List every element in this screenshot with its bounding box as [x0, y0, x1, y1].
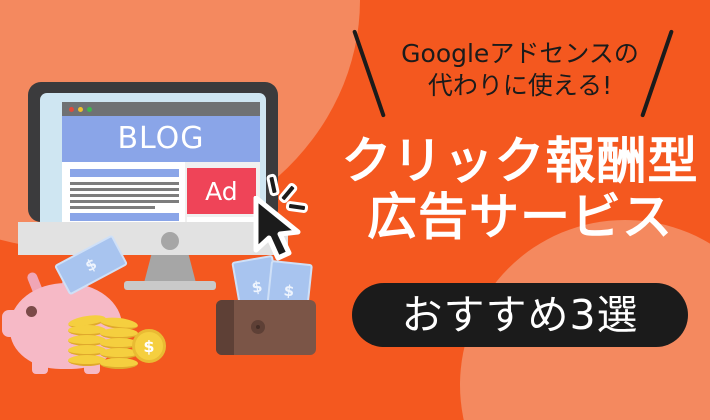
article-text-line [70, 194, 179, 197]
monitor-power-button [161, 232, 179, 250]
monitor-graphic: BLOG [28, 82, 278, 222]
headline-line-1: クリック報酬型 [342, 132, 699, 190]
browser-titlebar [62, 102, 260, 116]
site-title: BLOG [117, 124, 204, 154]
article-column [62, 162, 185, 222]
browser-window: BLOG [62, 102, 260, 222]
article-heading-bar [70, 213, 179, 221]
coin-icon [100, 358, 138, 369]
wallet-flap [216, 300, 234, 355]
piggy-bank-eye [26, 306, 37, 317]
badge-label: おすすめ3選 [401, 295, 638, 336]
ad-label: Ad [205, 179, 238, 204]
article-text-line [70, 182, 179, 185]
red-dot-icon [69, 107, 74, 112]
ad-block[interactable]: Ad [187, 168, 256, 214]
article-text-line [70, 206, 155, 209]
yellow-dot-icon [78, 107, 83, 112]
mouse-cursor-icon [252, 196, 312, 266]
dollar-symbol: $ [250, 277, 263, 297]
article-heading-bar [70, 169, 179, 177]
dollar-symbol: $ [82, 255, 100, 276]
headline-line-2: 広告サービス [330, 189, 710, 245]
headline-group: Googleアドセンスの 代わりに使える! クリック報酬型 広告サービス おすす… [330, 0, 710, 420]
illustration-group: BLOG [0, 0, 340, 420]
article-text-line [70, 200, 179, 203]
coin-face-icon: $ [132, 329, 166, 363]
piggy-bank-snout [2, 310, 26, 337]
article-text-line [70, 188, 179, 191]
piggy-bank-leg [32, 360, 48, 374]
banner-canvas: BLOG [0, 0, 710, 420]
kicker-line-1: Googleアドセンスの [401, 39, 639, 68]
monitor-bezel [18, 222, 288, 255]
kicker-text: Googleアドセンスの 代わりに使える! [330, 38, 710, 102]
main-headline: クリック報酬型 広告サービス [330, 133, 710, 245]
monitor-stand-base [124, 281, 216, 290]
dollar-symbol: $ [283, 282, 295, 301]
page-content: Ad [62, 162, 260, 222]
wallet-clasp [251, 320, 265, 334]
kicker-line-2: 代わりに使える! [330, 70, 710, 102]
monitor-screen: BLOG [40, 93, 266, 222]
site-header-band: BLOG [62, 116, 260, 162]
sidebar-column: Ad [185, 162, 260, 222]
green-dot-icon [87, 107, 92, 112]
coin-dollar-symbol: $ [143, 337, 154, 356]
recommendation-badge: おすすめ3選 [352, 283, 688, 347]
monitor-stand [144, 255, 196, 283]
